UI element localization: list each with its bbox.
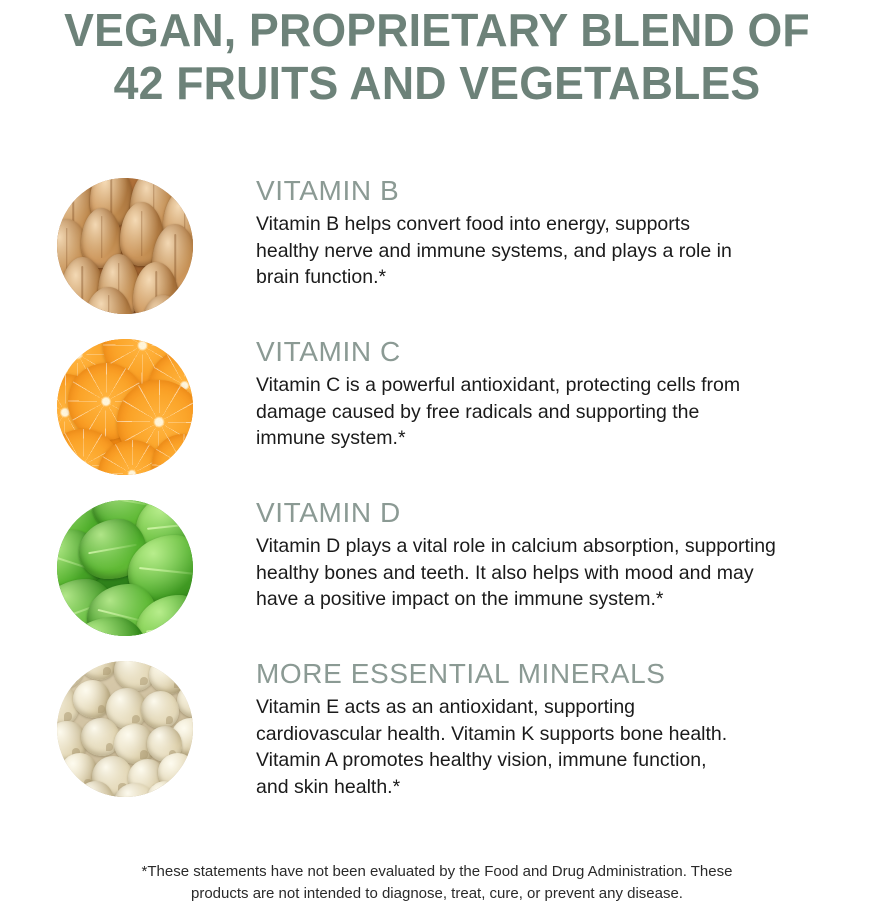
almonds-photo bbox=[57, 178, 193, 314]
disclaimer-line-1: *These statements have not been evaluate… bbox=[0, 861, 874, 883]
body-line: healthy nerve and immune systems, and pl… bbox=[256, 238, 864, 265]
spinach-leaves-art bbox=[57, 500, 193, 636]
page-title: VEGAN, PROPRIETARY BLEND OF 42 FRUITS AN… bbox=[0, 0, 874, 110]
infographic-page: VEGAN, PROPRIETARY BLEND OF 42 FRUITS AN… bbox=[0, 0, 874, 907]
orange-slices-art bbox=[57, 339, 193, 475]
body-line: brain function.* bbox=[256, 264, 864, 291]
body-line: damage caused by free radicals and suppo… bbox=[256, 399, 864, 426]
body-line: and skin health.* bbox=[256, 774, 864, 801]
section-body: Vitamin B helps convert food into energy… bbox=[256, 211, 864, 291]
almonds-art bbox=[57, 178, 193, 314]
orange-slices-photo bbox=[57, 339, 193, 475]
title-line-2: 42 FRUITS AND VEGETABLES bbox=[13, 57, 861, 110]
nutrient-section-more-minerals: MORE ESSENTIAL MINERALS Vitamin E acts a… bbox=[0, 657, 874, 822]
more-minerals-text: MORE ESSENTIAL MINERALS Vitamin E acts a… bbox=[256, 657, 864, 800]
nutrient-section-vitamin-d: VITAMIN D Vitamin D plays a vital role i… bbox=[0, 496, 874, 657]
nutrient-section-vitamin-c: VITAMIN C Vitamin C is a powerful antiox… bbox=[0, 335, 874, 496]
body-line: Vitamin E acts as an antioxidant, suppor… bbox=[256, 694, 864, 721]
vitamin-c-text: VITAMIN C Vitamin C is a powerful antiox… bbox=[256, 335, 864, 452]
body-line: Vitamin C is a powerful antioxidant, pro… bbox=[256, 372, 864, 399]
section-body: Vitamin C is a powerful antioxidant, pro… bbox=[256, 372, 864, 452]
vitamin-b-text: VITAMIN B Vitamin B helps convert food i… bbox=[256, 174, 864, 291]
section-body: Vitamin E acts as an antioxidant, suppor… bbox=[256, 694, 864, 800]
section-heading: MORE ESSENTIAL MINERALS bbox=[256, 657, 864, 691]
section-body: Vitamin D plays a vital role in calcium … bbox=[256, 533, 864, 613]
section-heading: VITAMIN D bbox=[256, 496, 864, 530]
body-line: immune system.* bbox=[256, 425, 864, 452]
nutrient-section-list: VITAMIN B Vitamin B helps convert food i… bbox=[0, 174, 874, 822]
spinach-leaves-photo bbox=[57, 500, 193, 636]
disclaimer: *These statements have not been evaluate… bbox=[0, 861, 874, 905]
chickpeas-photo bbox=[57, 661, 193, 797]
section-heading: VITAMIN B bbox=[256, 174, 864, 208]
body-line: Vitamin D plays a vital role in calcium … bbox=[256, 533, 864, 560]
body-line: cardiovascular health. Vitamin K support… bbox=[256, 721, 864, 748]
disclaimer-line-2: products are not intended to diagnose, t… bbox=[0, 883, 874, 905]
section-heading: VITAMIN C bbox=[256, 335, 864, 369]
body-line: Vitamin A promotes healthy vision, immun… bbox=[256, 747, 864, 774]
body-line: Vitamin B helps convert food into energy… bbox=[256, 211, 864, 238]
title-line-1: VEGAN, PROPRIETARY BLEND OF bbox=[13, 4, 861, 57]
chickpeas-art bbox=[57, 661, 193, 797]
vitamin-d-text: VITAMIN D Vitamin D plays a vital role i… bbox=[256, 496, 864, 613]
nutrient-section-vitamin-b: VITAMIN B Vitamin B helps convert food i… bbox=[0, 174, 874, 335]
body-line: healthy bones and teeth. It also helps w… bbox=[256, 560, 864, 587]
body-line: have a positive impact on the immune sys… bbox=[256, 586, 864, 613]
